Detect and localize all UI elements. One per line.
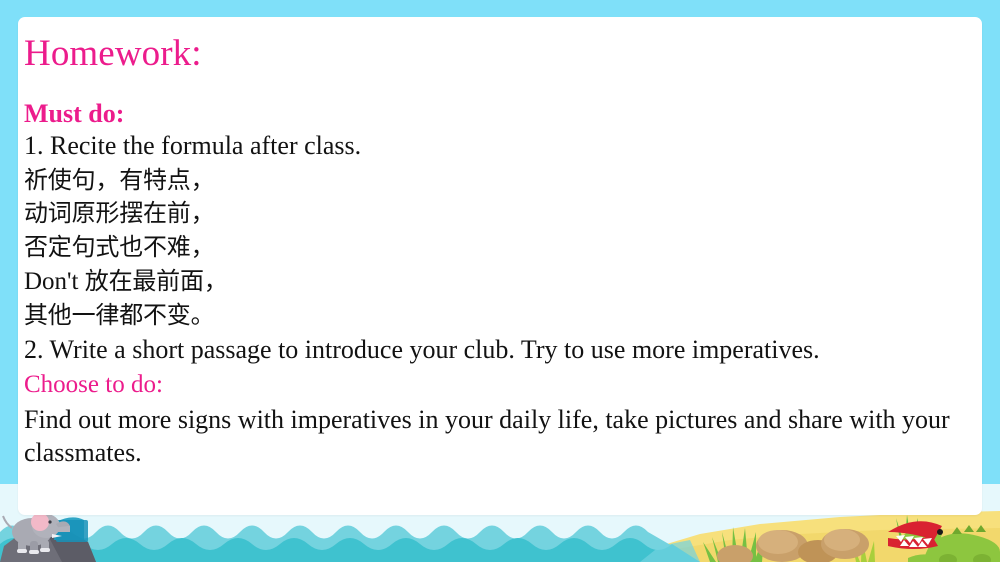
must-do-item-1: 1. Recite the formula after class. xyxy=(24,130,978,162)
must-do-item-2: 2. Write a short passage to introduce yo… xyxy=(24,334,978,366)
formula-line-1: 祈使句，有特点， xyxy=(24,165,978,197)
formula-line-2: 动词原形摆在前， xyxy=(24,198,978,230)
crocodile-eye xyxy=(937,529,943,535)
page-title: Homework: xyxy=(24,35,978,74)
formula-line-5: 其他一律都不变。 xyxy=(24,300,978,332)
sand-rock-3-hl xyxy=(824,529,860,551)
section-heading-choose-to-do: Choose to do: xyxy=(24,371,978,399)
elephant-ear xyxy=(31,513,49,531)
formula-line-4-chinese: 放在最前面， xyxy=(85,267,228,295)
slide-content: Homework: Must do: 1. Recite the formula… xyxy=(22,21,978,470)
formula-line-3: 否定句式也不难， xyxy=(24,232,978,264)
formula-line-4-latin: Don't xyxy=(24,268,85,295)
sand-rock-1-hl xyxy=(758,530,798,554)
choose-to-do-body: Find out more signs with imperatives in … xyxy=(24,403,954,471)
section-heading-must-do: Must do: xyxy=(24,100,978,129)
formula-line-4: Don't 放在最前面， xyxy=(24,266,978,299)
water-waves xyxy=(0,526,700,562)
elephant-eye xyxy=(48,520,51,523)
content-panel: Homework: Must do: 1. Recite the formula… xyxy=(18,17,982,515)
slide-canvas: Homework: Must do: 1. Recite the formula… xyxy=(0,0,1000,562)
